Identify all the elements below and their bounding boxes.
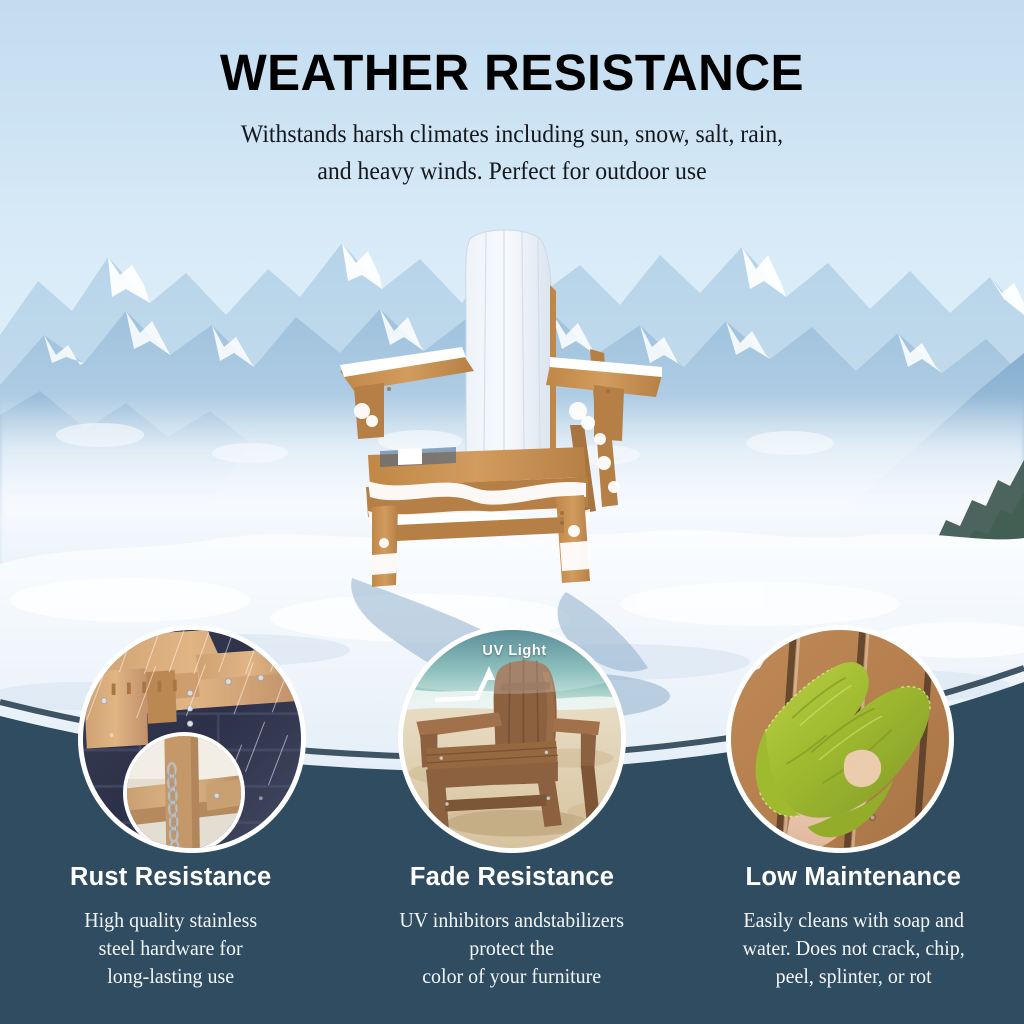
feature-body-line-1: Easily cleans with soap and: [706, 906, 1000, 934]
page-subtitle: Withstands harsh climates including sun,…: [36, 116, 988, 190]
feature-body-line-2: water. Does not crack, chip,: [706, 934, 1000, 962]
subtitle-line-2: and heavy winds. Perfect for outdoor use: [36, 153, 988, 190]
feature-body-low-maintenance: Easily cleans with soap and water. Does …: [706, 906, 1000, 991]
header-block: WEATHER RESISTANCE Withstands harsh clim…: [0, 46, 1024, 189]
feature-image-fade-resistance: UV Light: [398, 625, 626, 853]
feature-body-line-3: peel, splinter, or rot: [706, 962, 1000, 990]
feature-image-low-maintenance: [726, 625, 954, 853]
feature-inset-image-chain-hardware: [123, 732, 245, 853]
feature-body-line-1: UV inhibitors andstabilizers: [365, 906, 659, 934]
feature-body-rust-resistance: High quality stainless steel hardware fo…: [24, 906, 318, 991]
feature-body-line-3: color of your furniture: [365, 962, 659, 990]
uv-light-arrow-icon: [433, 660, 519, 712]
feature-card-low-maintenance: Low Maintenance Easily cleans with soap …: [683, 862, 1024, 991]
feature-card-rust-resistance: Rust Resistance High quality stainless s…: [0, 862, 341, 991]
subtitle-line-1: Withstands harsh climates including sun,…: [36, 116, 988, 153]
feature-body-fade-resistance: UV inhibitors andstabilizers protect the…: [365, 906, 659, 991]
feature-body-line-1: High quality stainless: [24, 906, 318, 934]
feature-image-circles: UV Light: [0, 625, 1024, 857]
feature-title-low-maintenance: Low Maintenance: [699, 862, 1008, 893]
feature-card-fade-resistance: Fade Resistance UV inhibitors andstabili…: [341, 862, 682, 991]
hero-snow-covered-chair-image: [332, 225, 677, 605]
feature-body-line-3: long-lasting use: [24, 962, 318, 990]
product-infographic-poster: WEATHER RESISTANCE Withstands harsh clim…: [0, 0, 1024, 1024]
uv-light-label: UV Light: [482, 643, 546, 659]
feature-body-line-2: steel hardware for: [24, 934, 318, 962]
feature-body-line-2: protect the: [365, 934, 659, 962]
feature-title-rust-resistance: Rust Resistance: [16, 862, 325, 893]
feature-cards-text: Rust Resistance High quality stainless s…: [0, 862, 1024, 991]
feature-title-fade-resistance: Fade Resistance: [357, 862, 666, 893]
page-title: WEATHER RESISTANCE: [15, 46, 1008, 100]
feature-image-rust-resistance: [78, 625, 306, 853]
